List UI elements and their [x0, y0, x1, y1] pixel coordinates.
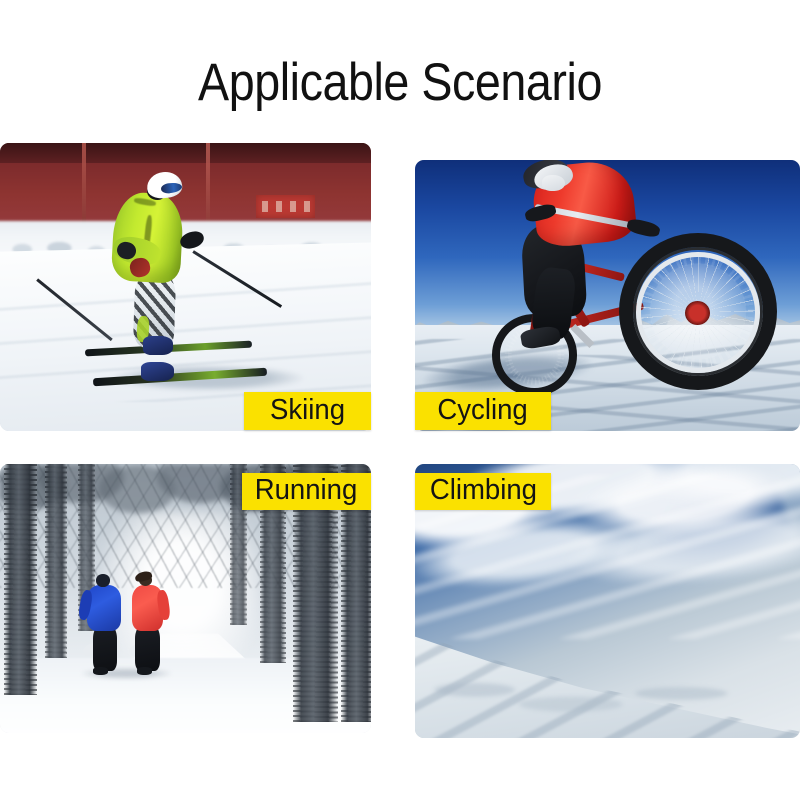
- cycling-photo: [415, 160, 800, 431]
- running-runner-blue-legs: [93, 625, 117, 671]
- running-tree-trunk-foreground: [4, 464, 37, 695]
- caption-climbing-label: Climbing: [429, 476, 536, 505]
- running-runner-red-shoe: [137, 667, 152, 675]
- scenario-image-cycling[interactable]: [415, 160, 800, 431]
- running-runner-red-legs: [135, 625, 159, 671]
- caption-running-label: Running: [255, 476, 358, 505]
- running-runner-blue-head: [96, 574, 109, 586]
- ski-course-pole-right: [206, 143, 210, 229]
- running-runner-blue-jacket: [87, 585, 120, 631]
- caption-skiing[interactable]: Skiing: [244, 392, 371, 430]
- cycling-rear-hub: [685, 301, 710, 325]
- scenario-collage: Applicable Scenario: [0, 0, 800, 800]
- ski-backdrop-shadow: [0, 143, 371, 163]
- caption-cycling-label: Cycling: [438, 396, 528, 425]
- caption-climbing[interactable]: Climbing: [415, 473, 551, 510]
- climbing-snow-drifts: [423, 661, 793, 732]
- ski-boot-front: [141, 362, 174, 381]
- page-title: Applicable Scenario: [48, 52, 752, 113]
- caption-skiing-label: Skiing: [270, 396, 345, 425]
- running-tree-trunk: [45, 464, 67, 658]
- ski-course-pole-left: [82, 143, 86, 224]
- ski-boot-rear: [143, 336, 173, 355]
- running-runner-blue-shoe: [93, 667, 108, 675]
- caption-running[interactable]: Running: [242, 473, 371, 510]
- cycling-rider-face: [542, 175, 565, 191]
- caption-cycling[interactable]: Cycling: [415, 392, 551, 430]
- ski-banner-text: [262, 201, 310, 213]
- skiing-photo: [0, 143, 371, 431]
- scenario-image-skiing[interactable]: [0, 143, 371, 431]
